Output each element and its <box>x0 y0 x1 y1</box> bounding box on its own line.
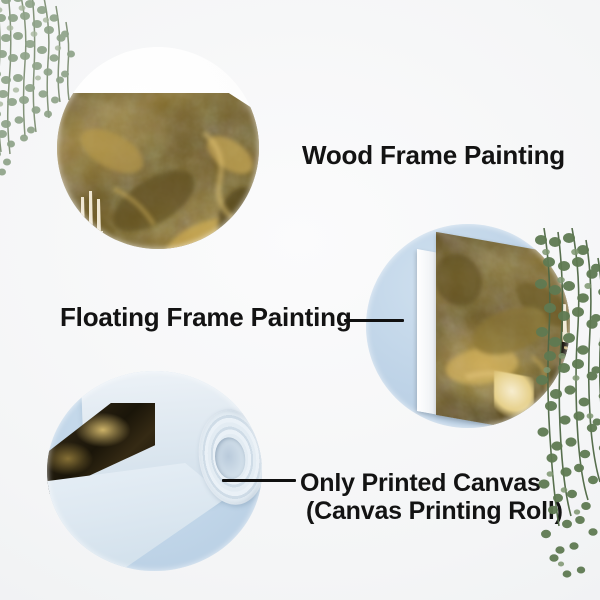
label-canvas-roll-line1: Only Printed Canvas <box>300 469 541 497</box>
vignette-canvas-roll <box>47 371 262 571</box>
label-canvas-roll: Only Printed Canvas (Canvas Printing Rol… <box>300 469 563 525</box>
painting-highlight <box>494 370 534 421</box>
painting-motif <box>72 191 114 249</box>
leader-line-floating-frame <box>344 319 404 322</box>
wood-frame-painting-image <box>57 93 259 249</box>
label-canvas-roll-line2: (Canvas Printing Roll) <box>300 497 563 525</box>
label-wood-frame-painting: Wood Frame Painting <box>302 141 565 170</box>
canvas-sheet <box>47 463 227 571</box>
vignette-wood-frame <box>57 47 259 249</box>
label-floating-frame-painting: Floating Frame Painting <box>60 303 352 332</box>
vignette-floating-frame <box>366 224 570 428</box>
infographic-canvas: Wood Frame Painting Floating Frame Paint… <box>0 0 600 600</box>
leader-line-canvas-roll <box>222 479 296 482</box>
painting-motif <box>558 299 570 375</box>
canvas-roll-core <box>212 435 248 481</box>
